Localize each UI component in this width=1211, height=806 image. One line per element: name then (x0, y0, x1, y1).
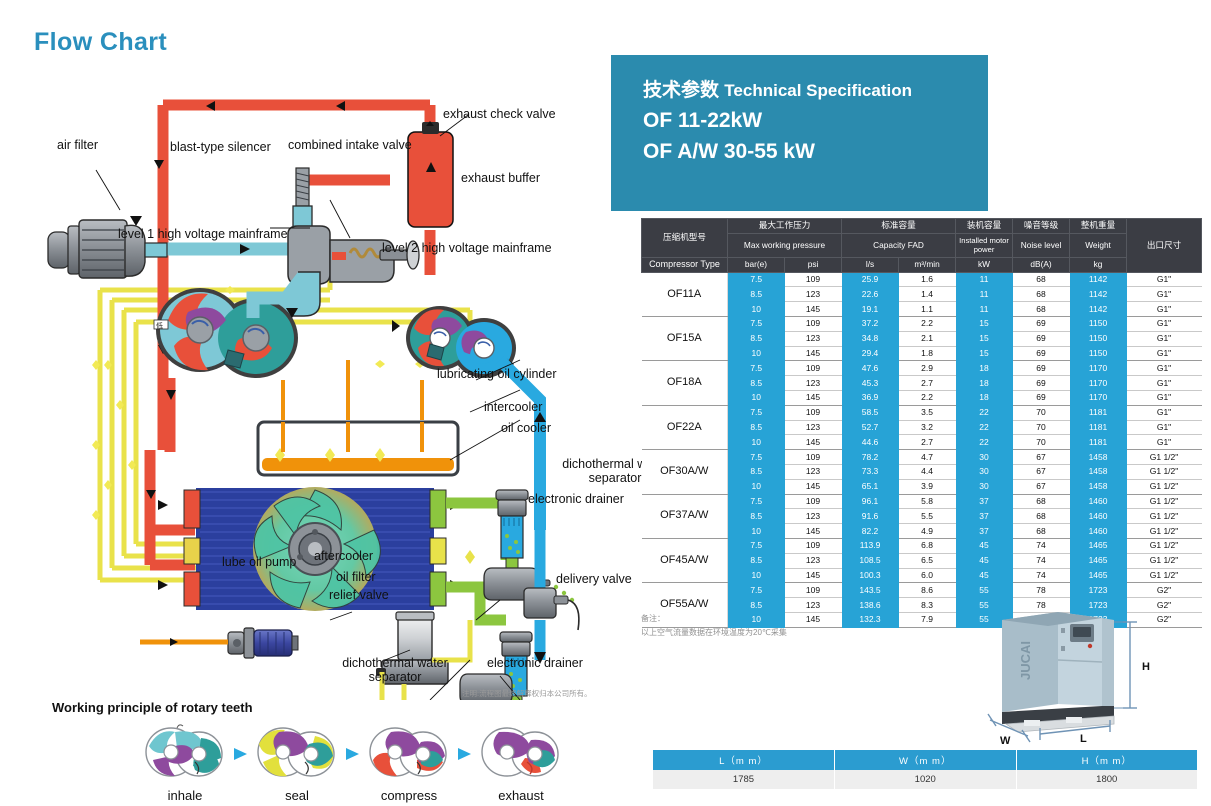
dim-header-2: H（m m） (1016, 750, 1198, 770)
cell-kw: 18 (956, 376, 1013, 391)
cell-psi: 109 (785, 316, 842, 331)
th-motor-cn: 装机容量 (956, 219, 1013, 234)
cell-kg: 1460 (1070, 524, 1127, 539)
cell-outlet: G1" (1127, 287, 1202, 302)
cell-kw: 45 (956, 553, 1013, 568)
cell-ls: 73.3 (842, 464, 899, 479)
cell-dba: 69 (1013, 331, 1070, 346)
cell-dba: 69 (1013, 361, 1070, 376)
label-delivery-valve: delivery valve (556, 572, 632, 586)
cell-kw: 18 (956, 390, 1013, 405)
cell-kg: 1150 (1070, 331, 1127, 346)
cell-m3min: 1.1 (899, 302, 956, 317)
cell-kg: 1458 (1070, 450, 1127, 465)
cell-m3min: 4.9 (899, 524, 956, 539)
cell-kg: 1181 (1070, 405, 1127, 420)
th-unit-dba: dB(A) (1013, 257, 1070, 272)
th-noise-cn: 噪音等级 (1013, 219, 1070, 234)
cell-ls: 45.3 (842, 376, 899, 391)
th-capacity-en: Capacity FAD (842, 233, 956, 257)
banner-line3: OF A/W 30-55 kW (643, 136, 988, 168)
cell-m3min: 3.2 (899, 420, 956, 435)
cell-bar: 8.5 (728, 553, 785, 568)
cell-bar: 7.5 (728, 538, 785, 553)
cell-bar: 10 (728, 435, 785, 450)
cell-kw: 45 (956, 568, 1013, 583)
cell-m3min: 5.5 (899, 509, 956, 524)
cell-bar: 8.5 (728, 598, 785, 613)
dim-header-0: L（m m） (653, 750, 835, 770)
label-level2-mainframe: level 2 high voltage mainframe (382, 241, 552, 255)
cell-bar: 8.5 (728, 420, 785, 435)
th-motor-en: Installed motor power (956, 233, 1013, 257)
rotary-step-inhale: inhale (140, 724, 230, 803)
cell-dba: 67 (1013, 479, 1070, 494)
cell-ls: 47.6 (842, 361, 899, 376)
cell-psi: 123 (785, 420, 842, 435)
dim-header-1: W（m m） (835, 750, 1017, 770)
cell-kw: 37 (956, 524, 1013, 539)
cell-kg: 1142 (1070, 272, 1127, 287)
cell-ls: 132.3 (842, 612, 899, 627)
cell-outlet: G1" (1127, 361, 1202, 376)
cell-bar: 8.5 (728, 509, 785, 524)
cell-dba: 74 (1013, 553, 1070, 568)
cell-ls: 25.9 (842, 272, 899, 287)
cell-model: OF18A (642, 361, 728, 405)
cell-psi: 145 (785, 524, 842, 539)
cell-kg: 1142 (1070, 302, 1127, 317)
cell-psi: 109 (785, 538, 842, 553)
cell-kw: 30 (956, 450, 1013, 465)
page-title: Flow Chart (34, 28, 167, 57)
cell-m3min: 2.9 (899, 361, 956, 376)
cell-ls: 58.5 (842, 405, 899, 420)
cell-psi: 109 (785, 272, 842, 287)
cell-outlet: G1" (1127, 420, 1202, 435)
rotor-inhale-icon (141, 724, 229, 780)
cell-bar: 7.5 (728, 450, 785, 465)
cell-ls: 100.3 (842, 568, 899, 583)
table-row: OF22A7.510958.53.522701181G1" (642, 405, 1202, 420)
th-unit-bar: bar(e) (728, 257, 785, 272)
cell-m3min: 2.7 (899, 376, 956, 391)
label-intercooler: intercooler (484, 400, 542, 414)
table-row: OF37A/W7.510996.15.837681460G1 1/2" (642, 494, 1202, 509)
rotor-seal-icon (253, 724, 341, 780)
cell-psi: 123 (785, 376, 842, 391)
cell-kg: 1142 (1070, 287, 1127, 302)
cell-kw: 11 (956, 302, 1013, 317)
label-combined-intake-valve: combined intake valve (288, 138, 412, 152)
table-row: OF30A/W7.510978.24.730671458G1 1/2" (642, 450, 1202, 465)
dim-value-1: 1020 (835, 770, 1017, 789)
table-row: OF15A7.510937.22.215691150G1" (642, 316, 1202, 331)
cell-kg: 1465 (1070, 538, 1127, 553)
dim-value-0: 1785 (653, 770, 835, 789)
cell-dba: 70 (1013, 435, 1070, 450)
th-model-cn: 压缩机型号 (642, 219, 728, 258)
cell-ls: 82.2 (842, 524, 899, 539)
cell-ls: 78.2 (842, 450, 899, 465)
cell-psi: 145 (785, 612, 842, 627)
dimension-table-row: 178510201800 (653, 770, 1198, 789)
cell-psi: 123 (785, 464, 842, 479)
cell-outlet: G1 1/2" (1127, 538, 1202, 553)
cell-m3min: 2.2 (899, 390, 956, 405)
cell-dba: 68 (1013, 494, 1070, 509)
banner-cn-title: 技术参数 (643, 80, 719, 101)
label-exhaust-buffer: exhaust buffer (461, 171, 540, 185)
cell-outlet: G1" (1127, 435, 1202, 450)
cell-psi: 123 (785, 287, 842, 302)
cell-m3min: 8.6 (899, 583, 956, 598)
cell-bar: 7.5 (728, 494, 785, 509)
th-pressure-cn: 最大工作压力 (728, 219, 842, 234)
cell-ls: 113.9 (842, 538, 899, 553)
label-air-filter: air filter (57, 138, 98, 152)
cell-psi: 145 (785, 346, 842, 361)
cell-bar: 10 (728, 568, 785, 583)
cell-kg: 1181 (1070, 435, 1127, 450)
cell-m3min: 3.9 (899, 479, 956, 494)
cell-kw: 15 (956, 346, 1013, 361)
table-row: OF11A7.510925.91.611681142G1" (642, 272, 1202, 287)
cell-outlet: G1" (1127, 390, 1202, 405)
cell-model: OF22A (642, 405, 728, 449)
cell-ls: 65.1 (842, 479, 899, 494)
cell-m3min: 2.7 (899, 435, 956, 450)
cell-outlet: G1" (1127, 302, 1202, 317)
rotary-step-label: compress (364, 788, 454, 803)
cell-bar: 10 (728, 524, 785, 539)
cell-ls: 52.7 (842, 420, 899, 435)
arrow-icon-2 (342, 724, 364, 784)
cell-bar: 7.5 (728, 405, 785, 420)
cell-dba: 68 (1013, 272, 1070, 287)
cell-kw: 30 (956, 479, 1013, 494)
cell-ls: 29.4 (842, 346, 899, 361)
cell-kg: 1458 (1070, 479, 1127, 494)
th-unit-ls: l/s (842, 257, 899, 272)
arrow-icon-3 (454, 724, 476, 784)
banner-en-title: Technical Specification (724, 81, 912, 100)
cell-ls: 108.5 (842, 553, 899, 568)
cell-dba: 69 (1013, 346, 1070, 361)
cell-kg: 1181 (1070, 420, 1127, 435)
table-footnote: 备注： 以上空气流量数据在环境温度为20℃采集 (641, 612, 787, 641)
th-pressure-en: Max working pressure (728, 233, 842, 257)
cell-bar: 8.5 (728, 331, 785, 346)
rotary-step-label: inhale (140, 788, 230, 803)
cell-psi: 123 (785, 509, 842, 524)
rotor-exhaust-icon (477, 724, 565, 780)
label-electronic-drainer-bottom: electronic drainer (487, 656, 583, 670)
cell-outlet: G1" (1127, 376, 1202, 391)
cell-kw: 55 (956, 583, 1013, 598)
cell-m3min: 4.7 (899, 450, 956, 465)
cell-m3min: 3.5 (899, 405, 956, 420)
cell-psi: 109 (785, 361, 842, 376)
cell-bar: 10 (728, 479, 785, 494)
th-unit-kw: kW (956, 257, 1013, 272)
cell-kw: 30 (956, 464, 1013, 479)
cell-kg: 1170 (1070, 361, 1127, 376)
cell-dba: 74 (1013, 568, 1070, 583)
cell-outlet: G1" (1127, 405, 1202, 420)
table-header-row-cn: 压缩机型号 最大工作压力 标准容量 装机容量 噪音等级 整机重量 出口尺寸 (642, 219, 1202, 234)
cell-ls: 37.2 (842, 316, 899, 331)
cell-psi: 109 (785, 583, 842, 598)
cell-dba: 78 (1013, 583, 1070, 598)
cell-m3min: 1.6 (899, 272, 956, 287)
footnote-line2: 以上空气流量数据在环境温度为20℃采集 (641, 626, 787, 640)
th-model-en: Compressor Type (642, 257, 728, 272)
cell-outlet: G1" (1127, 346, 1202, 361)
cell-dba: 68 (1013, 524, 1070, 539)
product-photo: JUCAI H L W (962, 608, 1202, 748)
cell-kw: 15 (956, 331, 1013, 346)
label-relief-valve: relief valve (329, 588, 389, 602)
cell-bar: 10 (728, 346, 785, 361)
cell-model: OF30A/W (642, 450, 728, 494)
th-unit-psi: psi (785, 257, 842, 272)
cell-outlet: G1 1/2" (1127, 509, 1202, 524)
cell-kg: 1170 (1070, 390, 1127, 405)
cell-outlet: G1 1/2" (1127, 568, 1202, 583)
rotary-step-seal: seal (252, 724, 342, 803)
cell-bar: 8.5 (728, 287, 785, 302)
cell-model: OF15A (642, 316, 728, 360)
cell-ls: 44.6 (842, 435, 899, 450)
label-lube-oil-pump: lube oil pump (222, 555, 296, 569)
cell-ls: 96.1 (842, 494, 899, 509)
cell-dba: 69 (1013, 376, 1070, 391)
cell-ls: 138.6 (842, 598, 899, 613)
th-weight-en: Weight (1070, 233, 1127, 257)
cell-ls: 34.8 (842, 331, 899, 346)
cell-outlet: G1 1/2" (1127, 464, 1202, 479)
rotary-step-exhaust: exhaust (476, 724, 566, 803)
cell-kw: 22 (956, 420, 1013, 435)
rotary-step-label: exhaust (476, 788, 566, 803)
specification-table-body: OF11A7.510925.91.611681142G1"8.512322.61… (642, 272, 1202, 627)
cell-dba: 70 (1013, 405, 1070, 420)
cell-kg: 1460 (1070, 494, 1127, 509)
cell-bar: 7.5 (728, 583, 785, 598)
cell-ls: 19.1 (842, 302, 899, 317)
cell-psi: 123 (785, 331, 842, 346)
cell-outlet: G1 1/2" (1127, 553, 1202, 568)
cell-dba: 68 (1013, 302, 1070, 317)
cell-kw: 37 (956, 494, 1013, 509)
cell-dba: 67 (1013, 464, 1070, 479)
table-row: OF55A/W7.5109143.58.655781723G2" (642, 583, 1202, 598)
cell-kw: 45 (956, 538, 1013, 553)
cell-kg: 1465 (1070, 553, 1127, 568)
cell-kg: 1460 (1070, 509, 1127, 524)
cell-ls: 91.6 (842, 509, 899, 524)
cell-kw: 22 (956, 405, 1013, 420)
cell-m3min: 6.5 (899, 553, 956, 568)
brand-text: JUCAI (1018, 641, 1033, 680)
cell-bar: 7.5 (728, 272, 785, 287)
cell-dba: 69 (1013, 316, 1070, 331)
cell-m3min: 4.4 (899, 464, 956, 479)
cell-kw: 18 (956, 361, 1013, 376)
cell-psi: 123 (785, 598, 842, 613)
cell-kw: 11 (956, 272, 1013, 287)
rotor-compress-icon (365, 724, 453, 780)
cell-bar: 8.5 (728, 464, 785, 479)
cell-outlet: G1" (1127, 272, 1202, 287)
banner-line2: OF 11-22kW (643, 105, 988, 137)
working-principle-steps: inhale seal (140, 724, 566, 803)
cell-outlet: G1 1/2" (1127, 494, 1202, 509)
cell-bar: 10 (728, 390, 785, 405)
cell-kg: 1723 (1070, 583, 1127, 598)
cell-psi: 109 (785, 494, 842, 509)
cell-kg: 1150 (1070, 346, 1127, 361)
cell-m3min: 6.8 (899, 538, 956, 553)
cell-psi: 145 (785, 479, 842, 494)
cell-m3min: 1.8 (899, 346, 956, 361)
cell-m3min: 6.0 (899, 568, 956, 583)
cell-dba: 69 (1013, 390, 1070, 405)
rotary-step-compress: compress (364, 724, 454, 803)
th-weight-cn: 整机重量 (1070, 219, 1127, 234)
cell-psi: 145 (785, 435, 842, 450)
cell-outlet: G2" (1127, 583, 1202, 598)
rotary-step-label: seal (252, 788, 342, 803)
cell-kw: 22 (956, 435, 1013, 450)
cell-psi: 145 (785, 390, 842, 405)
arrow-icon-1 (230, 724, 252, 784)
dim-l-label: L (1080, 733, 1087, 745)
cell-bar: 10 (728, 302, 785, 317)
cell-model: OF45A/W (642, 538, 728, 582)
label-lubricating-oil-cylinder: lubricating oil cylinder (437, 367, 557, 381)
th-outlet-cn: 出口尺寸 (1127, 219, 1202, 273)
cell-dba: 68 (1013, 509, 1070, 524)
cell-dba: 74 (1013, 538, 1070, 553)
table-row: OF45A/W7.5109113.96.845741465G1 1/2" (642, 538, 1202, 553)
cell-m3min: 7.9 (899, 612, 956, 627)
label-level1-mainframe: level 1 high voltage mainframe (118, 227, 288, 241)
cell-kw: 15 (956, 316, 1013, 331)
dim-h-label: H (1142, 661, 1150, 673)
label-aftercooler: aftercooler (314, 549, 373, 563)
cell-outlet: G1" (1127, 331, 1202, 346)
cell-kg: 1170 (1070, 376, 1127, 391)
label-exhaust-check-valve: exhaust check valve (443, 107, 556, 121)
cell-outlet: G1 1/2" (1127, 524, 1202, 539)
cell-kg: 1465 (1070, 568, 1127, 583)
cell-kw: 37 (956, 509, 1013, 524)
cell-dba: 70 (1013, 420, 1070, 435)
cell-bar: 8.5 (728, 376, 785, 391)
cell-psi: 109 (785, 450, 842, 465)
spec-banner: 技术参数 Technical Specification OF 11-22kW … (611, 55, 988, 211)
cell-psi: 145 (785, 302, 842, 317)
cell-m3min: 2.2 (899, 316, 956, 331)
dimension-table-header: L（m m）W（m m）H（m m） (653, 750, 1198, 770)
dim-w-label: W (1000, 735, 1011, 747)
footnote-line1: 备注： (641, 612, 787, 626)
cell-dba: 68 (1013, 287, 1070, 302)
cell-m3min: 1.4 (899, 287, 956, 302)
cell-psi: 145 (785, 568, 842, 583)
cell-kg: 1150 (1070, 316, 1127, 331)
cell-psi: 123 (785, 553, 842, 568)
cell-outlet: G1" (1127, 316, 1202, 331)
label-oil-cooler: oil cooler (501, 421, 551, 435)
cell-m3min: 2.1 (899, 331, 956, 346)
working-principle-title: Working principle of rotary teeth (52, 700, 253, 715)
copyright-note: 注明:流程图最终解释权归本公司所有。 (462, 688, 592, 699)
cell-kw: 11 (956, 287, 1013, 302)
th-capacity-cn: 标准容量 (842, 219, 956, 234)
dimension-table: L（m m）W（m m）H（m m） 178510201800 (653, 750, 1198, 789)
cell-m3min: 5.8 (899, 494, 956, 509)
label-blast-type-silencer: blast-type silencer (170, 140, 271, 154)
cell-ls: 36.9 (842, 390, 899, 405)
table-header-row-units: Compressor Type bar(e) psi l/s m³/min kW… (642, 257, 1202, 272)
cell-ls: 143.5 (842, 583, 899, 598)
cell-ls: 22.6 (842, 287, 899, 302)
cell-model: OF11A (642, 272, 728, 316)
th-noise-en: Noise level (1013, 233, 1070, 257)
cell-outlet: G1 1/2" (1127, 450, 1202, 465)
cell-bar: 7.5 (728, 316, 785, 331)
specification-table: 压缩机型号 最大工作压力 标准容量 装机容量 噪音等级 整机重量 出口尺寸 Ma… (641, 218, 1202, 628)
cell-dba: 67 (1013, 450, 1070, 465)
label-electronic-drainer-top: electronic drainer (528, 492, 624, 506)
cell-bar: 7.5 (728, 361, 785, 376)
table-row: OF18A7.510947.62.918691170G1" (642, 361, 1202, 376)
label-dichothermal-water-separator-bottom: dichothermal waterseparator (330, 656, 460, 685)
cell-kg: 1458 (1070, 464, 1127, 479)
cell-psi: 109 (785, 405, 842, 420)
cell-m3min: 8.3 (899, 598, 956, 613)
svg-text:低: 低 (156, 321, 163, 330)
th-unit-kg: kg (1070, 257, 1127, 272)
cell-outlet: G1 1/2" (1127, 479, 1202, 494)
dim-value-2: 1800 (1016, 770, 1198, 789)
th-unit-m3min: m³/min (899, 257, 956, 272)
label-oil-filter: oil filter (336, 570, 376, 584)
cell-model: OF37A/W (642, 494, 728, 538)
